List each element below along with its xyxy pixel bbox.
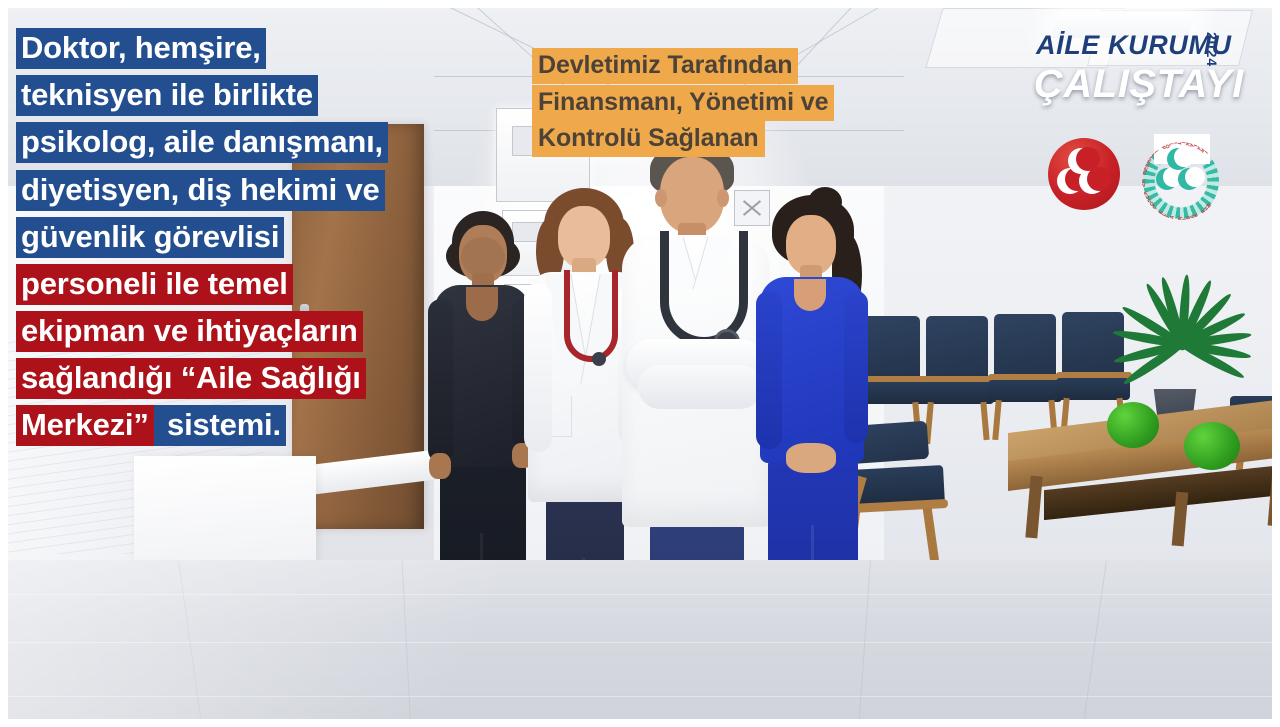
caption-line: Doktor, hemşire, [16,28,266,69]
mhp-women-family-emblem: MHP KADIN AİLE ÇOCUK VE ENGELLİ POLİTİKA… [1134,134,1228,228]
mhp-party-emblem [1048,138,1120,210]
topiary-ball [1107,402,1159,448]
top-orange-caption: Devletimiz Tarafından Finansmanı, Yöneti… [532,48,932,158]
caption-line-tail: sistemi. [154,405,286,446]
emblem-ring-text: MHP KADIN AİLE ÇOCUK VE ENGELLİ POLİTİKA… [1134,134,1228,228]
caption-line: diyetisyen, diş hekimi ve [16,170,385,211]
caption-line: teknisyen ile birlikte [16,75,318,116]
potted-palm [1116,286,1266,401]
caption-line: Devletimiz Tarafından [532,48,798,84]
caption-line: Merkezi” [16,405,154,446]
topiary-ball [1184,422,1240,470]
caption-line: sağlandığı “Aile Sağlığı [16,358,366,399]
caption-line: ekipman ve ihtiyaçların [16,311,363,352]
caption-line: personeli ile temel [16,264,293,305]
logo-title-line2: ÇALIŞTAYI [1034,62,1244,107]
promo-graphic: Doktor, hemşire, teknisyen ile birlikte … [0,0,1280,727]
event-logo: AİLE KURUMU 2024 ÇALIŞTAYI [1024,26,1264,236]
wall-jut [134,456,316,568]
floor-reflection [4,560,1276,723]
caption-line: psikolog, aile danışmanı, [16,122,388,163]
caption-line: Finansmanı, Yönetimi ve [532,85,834,121]
caption-line: Kontrolü Sağlanan [532,121,765,157]
caption-line: güvenlik görevlisi [16,217,284,258]
left-statement-caption: Doktor, hemşire, teknisyen ile birlikte … [16,26,446,451]
logo-title-line1: AİLE KURUMU [1036,30,1232,61]
